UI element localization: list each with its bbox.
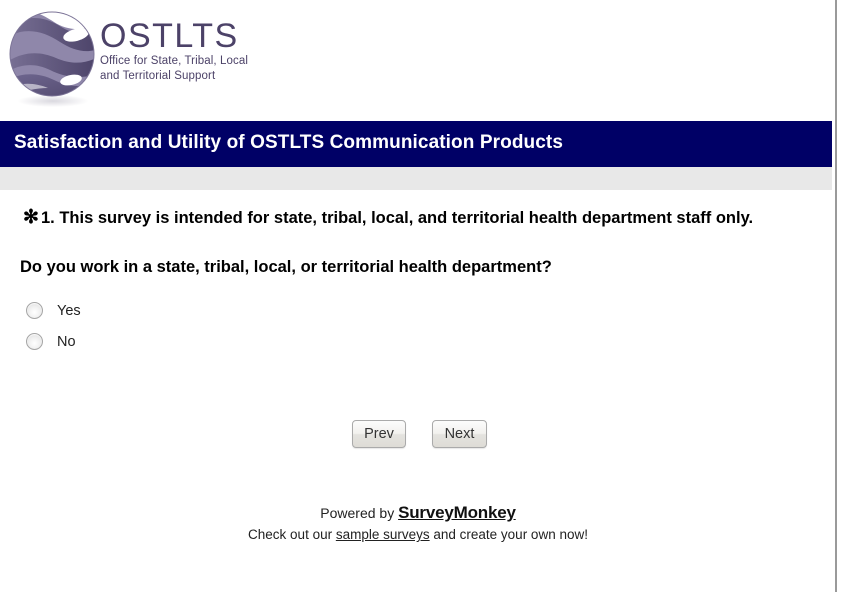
radio-label-no: No — [57, 334, 76, 350]
question-text: 1. This survey is intended for state, tr… — [24, 206, 790, 230]
promo-suffix: and create your own now! — [430, 527, 588, 542]
question-block: ✻ 1. This survey is intended for state, … — [0, 190, 836, 357]
brand-subtitle-line1: Office for State, Tribal, Local — [100, 54, 400, 69]
required-asterisk-icon: ✻ — [23, 208, 39, 227]
next-button[interactable]: Next — [432, 420, 487, 448]
footer: Powered by SurveyMonkey Check out our sa… — [0, 503, 836, 544]
radio-label-yes: Yes — [57, 303, 81, 319]
radio-group: Yes No — [0, 295, 836, 357]
brand-subtitle-line2: and Territorial Support — [100, 69, 400, 84]
sample-surveys-link[interactable]: sample surveys — [336, 527, 430, 542]
powered-by-line: Powered by SurveyMonkey — [0, 503, 836, 523]
radio-button-yes[interactable] — [26, 302, 43, 319]
brand-title: OSTLTS — [100, 18, 400, 54]
promo-prefix: Check out our — [248, 527, 336, 542]
survey-title: Satisfaction and Utility of OSTLTS Commu… — [14, 132, 563, 154]
radio-option-yes[interactable]: Yes — [26, 295, 836, 326]
radio-button-no[interactable] — [26, 333, 43, 350]
survey-title-bar: Satisfaction and Utility of OSTLTS Commu… — [0, 121, 832, 167]
footer-promo-line: Check out our sample surveys and create … — [0, 525, 836, 544]
brand-header: OSTLTS Office for State, Tribal, Local a… — [0, 0, 836, 121]
page-right-gutter — [837, 0, 841, 592]
question-primary-row: ✻ 1. This survey is intended for state, … — [0, 206, 836, 230]
powered-by-label: Powered by — [320, 505, 398, 521]
surveymonkey-link[interactable]: SurveyMonkey — [398, 503, 516, 522]
survey-page: OSTLTS Office for State, Tribal, Local a… — [0, 0, 836, 592]
prev-button[interactable]: Prev — [352, 420, 406, 448]
title-underbar — [0, 167, 832, 190]
brand-wordmark: OSTLTS Office for State, Tribal, Local a… — [100, 18, 400, 84]
question-subtext: Do you work in a state, tribal, local, o… — [0, 256, 836, 278]
ostlts-globe-logo-icon — [8, 10, 96, 98]
radio-option-no[interactable]: No — [26, 326, 836, 357]
